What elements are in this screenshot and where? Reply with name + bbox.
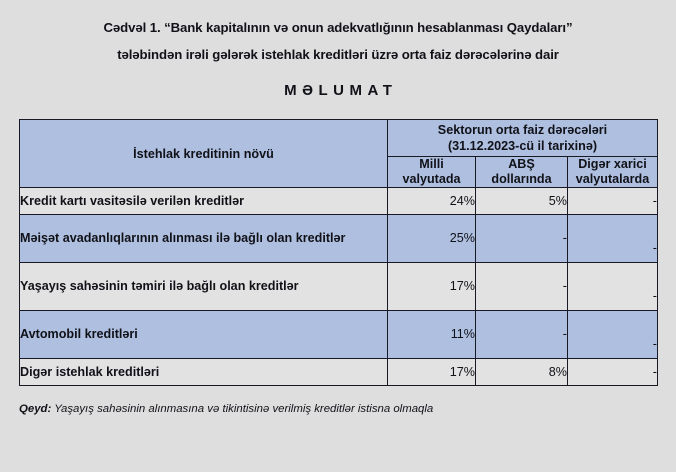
cell-national-currency: 25% xyxy=(388,215,476,263)
table-header-row-1: İstehlak kreditinin növü Sektorun orta f… xyxy=(20,120,658,157)
cell-national-currency: 11% xyxy=(388,311,476,359)
sub-header-usd-line-1: ABŞ xyxy=(476,157,567,172)
document-title-line-1: Cədvəl 1. “Bank kapitalının və onun adek… xyxy=(46,14,630,41)
table-container: İstehlak kreditinin növü Sektorun orta f… xyxy=(19,119,657,386)
cell-other-currency: - xyxy=(568,263,658,311)
cell-credit-type: Yaşayış sahəsinin təmiri ilə bağlı olan … xyxy=(20,263,388,311)
cell-credit-type: Digər istehlak kreditləri xyxy=(20,359,388,386)
cell-other-currency: - xyxy=(568,215,658,263)
cell-credit-type: Kredit kartı vasitəsilə verilən kreditlə… xyxy=(20,188,388,215)
table-row: Məişət avadanlıqlarının alınması ilə bağ… xyxy=(20,215,658,263)
sub-header-usd-line-2: dollarında xyxy=(476,172,567,187)
cell-credit-type: Məişət avadanlıqlarının alınması ilə bağ… xyxy=(20,215,388,263)
table-body: Kredit kartı vasitəsilə verilən kreditlə… xyxy=(20,188,658,386)
table-row: Kredit kartı vasitəsilə verilən kreditlə… xyxy=(20,188,658,215)
column-header-other-currency: Digər xarici valyutalarda xyxy=(568,157,658,188)
sub-header-milli-line-2: valyutada xyxy=(388,172,475,187)
table-row: Yaşayış sahəsinin təmiri ilə bağlı olan … xyxy=(20,263,658,311)
document-title-line-2: tələbindən irəli gələrək istehlak kredit… xyxy=(46,41,630,68)
cell-usd: 5% xyxy=(476,188,568,215)
cell-other-currency: - xyxy=(568,359,658,386)
cell-national-currency: 24% xyxy=(388,188,476,215)
table-row: Avtomobil kreditləri11%-- xyxy=(20,311,658,359)
sub-header-other-line-1: Digər xarici xyxy=(568,157,657,172)
cell-usd: - xyxy=(476,311,568,359)
column-header-credit-type: İstehlak kreditinin növü xyxy=(20,120,388,188)
group-header-line-1: Sektorun orta faiz dərəcələri xyxy=(388,122,657,138)
cell-usd: 8% xyxy=(476,359,568,386)
cell-usd: - xyxy=(476,215,568,263)
document-heading: MƏLUMAT xyxy=(46,82,630,99)
interest-rates-table: İstehlak kreditinin növü Sektorun orta f… xyxy=(19,119,658,386)
cell-other-currency: - xyxy=(568,311,658,359)
cell-national-currency: 17% xyxy=(388,263,476,311)
column-header-sector-rates-group: Sektorun orta faiz dərəcələri (31.12.202… xyxy=(388,120,658,157)
cell-usd: - xyxy=(476,263,568,311)
document-page: Cədvəl 1. “Bank kapitalının və onun adek… xyxy=(0,0,676,472)
sub-header-milli-line-1: Milli xyxy=(388,157,475,172)
footnote-text: Yaşayış sahəsinin alınmasına və tikintis… xyxy=(51,403,433,415)
cell-credit-type: Avtomobil kreditləri xyxy=(20,311,388,359)
title-block: Cədvəl 1. “Bank kapitalının və onun adek… xyxy=(0,0,676,99)
column-header-national-currency: Milli valyutada xyxy=(388,157,476,188)
cell-national-currency: 17% xyxy=(388,359,476,386)
table-head: İstehlak kreditinin növü Sektorun orta f… xyxy=(20,120,658,188)
group-header-line-2: (31.12.2023-cü il tarixinə) xyxy=(388,138,657,154)
footnote: Qeyd: Yaşayış sahəsinin alınmasına və ti… xyxy=(19,402,657,417)
column-header-usd: ABŞ dollarında xyxy=(476,157,568,188)
footnote-label: Qeyd: xyxy=(19,403,51,415)
cell-other-currency: - xyxy=(568,188,658,215)
table-row: Digər istehlak kreditləri17%8%- xyxy=(20,359,658,386)
sub-header-other-line-2: valyutalarda xyxy=(568,172,657,187)
